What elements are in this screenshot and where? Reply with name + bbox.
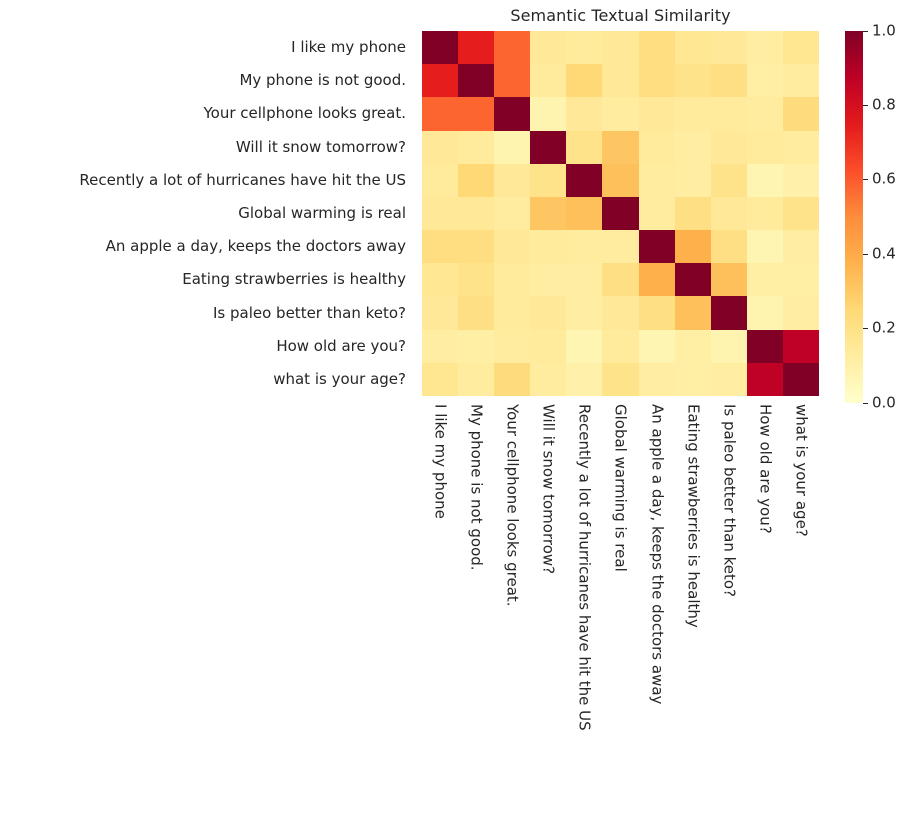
heatmap-cell bbox=[530, 230, 566, 263]
heatmap-cell bbox=[530, 330, 566, 363]
heatmap-cell bbox=[422, 131, 458, 164]
heatmap-cell bbox=[530, 263, 566, 296]
y-tick-label: How old are you? bbox=[0, 330, 414, 363]
colorbar-tick-mark bbox=[863, 403, 868, 404]
x-tick-cell: Your cellphone looks great. bbox=[494, 396, 530, 656]
colorbar-tick-labels: 0.00.20.40.60.81.0 bbox=[863, 31, 915, 403]
colorbar-tick-text: 0.0 bbox=[872, 395, 896, 410]
heatmap-cell bbox=[458, 164, 494, 197]
heatmap-cell bbox=[458, 97, 494, 130]
heatmap-cell bbox=[639, 296, 675, 329]
heatmap-cell bbox=[675, 197, 711, 230]
heatmap-cell bbox=[422, 197, 458, 230]
heatmap-cell bbox=[422, 230, 458, 263]
heatmap-cell bbox=[711, 363, 747, 396]
x-tick-label: Recently a lot of hurricanes have hit th… bbox=[577, 404, 592, 731]
heatmap-cell bbox=[639, 263, 675, 296]
colorbar-tick-text: 0.8 bbox=[872, 97, 896, 112]
y-tick-label: I like my phone bbox=[0, 31, 414, 64]
heatmap-cell bbox=[422, 363, 458, 396]
heatmap-cell bbox=[458, 31, 494, 64]
x-tick-cell: I like my phone bbox=[422, 396, 458, 656]
heatmap-cell bbox=[602, 330, 638, 363]
heatmap-cell bbox=[747, 97, 783, 130]
x-tick-cell: Will it snow tomorrow? bbox=[530, 396, 566, 656]
x-tick-cell: what is your age? bbox=[783, 396, 819, 656]
x-tick-label: Eating strawberries is healthy bbox=[685, 404, 700, 628]
heatmap-cell bbox=[602, 97, 638, 130]
heatmap-cell bbox=[422, 263, 458, 296]
y-tick-label: Eating strawberries is healthy bbox=[0, 263, 414, 296]
heatmap-cell bbox=[783, 330, 819, 363]
heatmap-cell bbox=[566, 197, 602, 230]
heatmap-cell bbox=[566, 330, 602, 363]
y-tick-label: Recently a lot of hurricanes have hit th… bbox=[0, 164, 414, 197]
heatmap-cell bbox=[711, 97, 747, 130]
heatmap-cell bbox=[675, 31, 711, 64]
heatmap-grid bbox=[422, 31, 819, 396]
heatmap-cell bbox=[458, 197, 494, 230]
heatmap-cell bbox=[783, 197, 819, 230]
heatmap-cell bbox=[711, 131, 747, 164]
colorbar-tick-text: 0.2 bbox=[872, 321, 896, 336]
heatmap-cell bbox=[458, 330, 494, 363]
heatmap-cell bbox=[530, 197, 566, 230]
heatmap-cell bbox=[711, 296, 747, 329]
heatmap-cell bbox=[639, 197, 675, 230]
x-tick-label: An apple a day, keeps the doctors away bbox=[649, 404, 664, 704]
colorbar-tick-mark bbox=[863, 179, 868, 180]
heatmap-cell bbox=[494, 330, 530, 363]
heatmap-cell bbox=[783, 31, 819, 64]
heatmap-cell bbox=[422, 64, 458, 97]
heatmap-cell bbox=[602, 64, 638, 97]
heatmap-cell bbox=[602, 230, 638, 263]
heatmap-cell bbox=[566, 363, 602, 396]
heatmap-cell bbox=[494, 296, 530, 329]
x-tick-cell: Global warming is real bbox=[602, 396, 638, 656]
heatmap-cell bbox=[711, 197, 747, 230]
heatmap-cell bbox=[458, 263, 494, 296]
heatmap-cell bbox=[602, 263, 638, 296]
heatmap-cell bbox=[422, 164, 458, 197]
heatmap-cell bbox=[566, 263, 602, 296]
heatmap-cell bbox=[675, 131, 711, 164]
heatmap-cell bbox=[747, 131, 783, 164]
x-tick-label: How old are you? bbox=[757, 404, 772, 534]
heatmap-cell bbox=[783, 131, 819, 164]
heatmap-cell bbox=[494, 197, 530, 230]
heatmap-cell bbox=[530, 97, 566, 130]
x-tick-label: My phone is not good. bbox=[469, 404, 484, 571]
heatmap-cell bbox=[422, 296, 458, 329]
colorbar-gradient bbox=[845, 31, 863, 403]
heatmap-cell bbox=[602, 197, 638, 230]
heatmap-cell bbox=[422, 31, 458, 64]
heatmap-cell bbox=[783, 263, 819, 296]
heatmap-cell bbox=[783, 296, 819, 329]
heatmap-cell bbox=[711, 330, 747, 363]
heatmap-cell bbox=[422, 97, 458, 130]
colorbar-tick-text: 0.4 bbox=[872, 246, 896, 261]
colorbar-tick-mark bbox=[863, 105, 868, 106]
heatmap-cell bbox=[494, 263, 530, 296]
colorbar-tick-text: 1.0 bbox=[872, 23, 896, 38]
heatmap-cell bbox=[566, 97, 602, 130]
heatmap-cell bbox=[783, 64, 819, 97]
heatmap-cell bbox=[566, 164, 602, 197]
heatmap-cell bbox=[639, 97, 675, 130]
heatmap-cell bbox=[783, 230, 819, 263]
x-axis-tick-labels: I like my phoneMy phone is not good.Your… bbox=[422, 396, 819, 656]
heatmap-cell bbox=[747, 263, 783, 296]
heatmap-cell bbox=[602, 164, 638, 197]
heatmap-cell bbox=[494, 64, 530, 97]
heatmap-figure: Semantic Textual Similarity I like my ph… bbox=[0, 0, 915, 826]
y-tick-label: what is your age? bbox=[0, 363, 414, 396]
x-tick-label: Will it snow tomorrow? bbox=[541, 404, 556, 574]
heatmap-cell bbox=[675, 97, 711, 130]
y-axis-tick-labels: I like my phoneMy phone is not good.Your… bbox=[0, 31, 414, 396]
heatmap-cell bbox=[602, 296, 638, 329]
x-tick-label: I like my phone bbox=[433, 404, 448, 519]
x-tick-label: Global warming is real bbox=[613, 404, 628, 572]
heatmap-cell bbox=[602, 363, 638, 396]
heatmap-cell bbox=[494, 31, 530, 64]
x-tick-cell: An apple a day, keeps the doctors away bbox=[639, 396, 675, 656]
heatmap-cell bbox=[566, 131, 602, 164]
heatmap-cell bbox=[530, 64, 566, 97]
x-tick-cell: My phone is not good. bbox=[458, 396, 494, 656]
heatmap-cell bbox=[458, 131, 494, 164]
heatmap-cell bbox=[639, 64, 675, 97]
heatmap-cell bbox=[747, 230, 783, 263]
heatmap-cell bbox=[747, 64, 783, 97]
heatmap-cell bbox=[783, 363, 819, 396]
y-tick-label: Is paleo better than keto? bbox=[0, 297, 414, 330]
y-tick-label: Global warming is real bbox=[0, 197, 414, 230]
colorbar-tick-text: 0.6 bbox=[872, 172, 896, 187]
heatmap-cell bbox=[566, 31, 602, 64]
heatmap-cell bbox=[458, 296, 494, 329]
heatmap-cell bbox=[639, 363, 675, 396]
heatmap-cell bbox=[639, 330, 675, 363]
colorbar-tick-mark bbox=[863, 328, 868, 329]
heatmap-cell bbox=[675, 263, 711, 296]
heatmap-cell bbox=[530, 296, 566, 329]
x-tick-label: Your cellphone looks great. bbox=[505, 404, 520, 607]
heatmap-cell bbox=[530, 131, 566, 164]
heatmap-cell bbox=[566, 296, 602, 329]
heatmap-cell bbox=[675, 363, 711, 396]
x-tick-label: what is your age? bbox=[793, 404, 808, 537]
heatmap-cell bbox=[494, 97, 530, 130]
heatmap-cell bbox=[747, 363, 783, 396]
heatmap-cell bbox=[675, 230, 711, 263]
y-tick-label: Your cellphone looks great. bbox=[0, 97, 414, 130]
chart-title: Semantic Textual Similarity bbox=[422, 6, 819, 25]
heatmap-cell bbox=[711, 31, 747, 64]
colorbar-tick-mark bbox=[863, 31, 868, 32]
heatmap-cell bbox=[639, 31, 675, 64]
heatmap-cell bbox=[494, 230, 530, 263]
heatmap-cell bbox=[711, 263, 747, 296]
heatmap-cell bbox=[458, 64, 494, 97]
heatmap-cell bbox=[602, 31, 638, 64]
heatmap-cell bbox=[530, 363, 566, 396]
heatmap-cell bbox=[566, 230, 602, 263]
heatmap-cell bbox=[747, 330, 783, 363]
y-tick-label: Will it snow tomorrow? bbox=[0, 131, 414, 164]
heatmap-cell bbox=[675, 164, 711, 197]
heatmap-cell bbox=[675, 296, 711, 329]
x-tick-label: Is paleo better than keto? bbox=[721, 404, 736, 597]
heatmap-cell bbox=[747, 31, 783, 64]
heatmap-cell bbox=[639, 230, 675, 263]
heatmap-cell bbox=[639, 164, 675, 197]
heatmap-cell bbox=[747, 197, 783, 230]
heatmap-cell bbox=[458, 363, 494, 396]
heatmap-cell bbox=[711, 230, 747, 263]
colorbar-tick-mark bbox=[863, 254, 868, 255]
heatmap-cell bbox=[602, 131, 638, 164]
x-tick-cell: Is paleo better than keto? bbox=[711, 396, 747, 656]
heatmap-cell bbox=[711, 64, 747, 97]
x-tick-cell: Recently a lot of hurricanes have hit th… bbox=[566, 396, 602, 656]
heatmap-cell bbox=[566, 64, 602, 97]
heatmap-cell bbox=[494, 131, 530, 164]
y-tick-label: My phone is not good. bbox=[0, 64, 414, 97]
heatmap-cell bbox=[747, 296, 783, 329]
heatmap-cell bbox=[458, 230, 494, 263]
heatmap-cell bbox=[494, 363, 530, 396]
y-tick-label: An apple a day, keeps the doctors away bbox=[0, 230, 414, 263]
x-tick-cell: How old are you? bbox=[747, 396, 783, 656]
heatmap-cell bbox=[422, 330, 458, 363]
heatmap-cell bbox=[711, 164, 747, 197]
x-tick-cell: Eating strawberries is healthy bbox=[675, 396, 711, 656]
heatmap-cell bbox=[639, 131, 675, 164]
heatmap-cell bbox=[675, 64, 711, 97]
heatmap-cell bbox=[675, 330, 711, 363]
heatmap-cell bbox=[783, 164, 819, 197]
heatmap-cell bbox=[747, 164, 783, 197]
heatmap-cell bbox=[530, 164, 566, 197]
heatmap-cell bbox=[783, 97, 819, 130]
heatmap-cell bbox=[530, 31, 566, 64]
heatmap-cell bbox=[494, 164, 530, 197]
